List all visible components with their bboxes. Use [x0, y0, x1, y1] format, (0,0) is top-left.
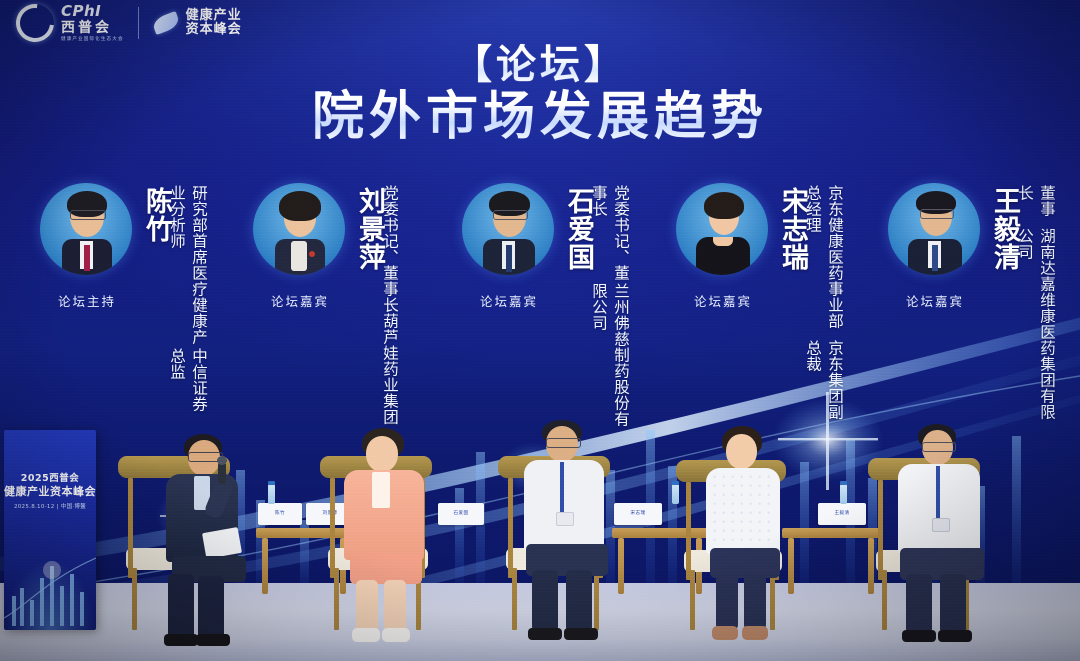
logo-cphi: CPhI 西普会 健康产业国际化生态大会 [16, 4, 124, 43]
logo-cphi-en: CPhI [61, 4, 124, 19]
header-logos: CPhI 西普会 健康产业国际化生态大会 健康产业 资本峰会 [16, 4, 242, 43]
speaker-card-list: 论坛主持 陈竹 研究部首席医疗健康产业分析师 中信证券 总监 论坛嘉宾 刘景萍 [0, 183, 1080, 433]
speaker-role: 论坛嘉宾 [674, 291, 772, 310]
banner-line1: 2025西普会 [4, 470, 96, 484]
panel-discussion-scene: 陈竹 刘景萍 [0, 400, 1080, 661]
speaker-role: 论坛嘉宾 [460, 291, 558, 310]
panelist [146, 434, 266, 644]
avatar [40, 183, 132, 275]
speaker-title-line2: 湖南达嘉维康医药集团有限公司 [1014, 228, 1058, 431]
speaker-card: 论坛嘉宾 宋志瑞 京东健康医药事业部总经理 京东集团副总裁 [676, 183, 874, 433]
water-bottle [840, 484, 847, 504]
nameplate-text: 石爱国 [438, 503, 484, 525]
speaker-title: 党委书记、董事长 兰州佛慈制药股份有限公司 [588, 185, 632, 431]
speaker-title-line2: 葫芦娃药业集团 [379, 313, 401, 425]
panelist [884, 424, 1002, 646]
forum-title-line2: 院外市场发展趋势 [0, 88, 1080, 146]
logo-cphi-subtitle: 健康产业国际化生态大会 [61, 38, 124, 43]
banner-chart-graphic [4, 540, 96, 630]
nameplate-text: 宋志瑞 [614, 503, 662, 525]
conference-stage-screenshot: CPhI 西普会 健康产业国际化生态大会 健康产业 资本峰会 【论坛】 院外市场… [0, 0, 1080, 661]
banner-line3: 2025.8.10-12 | 中国·博鳌 [4, 502, 96, 510]
avatar [253, 183, 345, 275]
speaker-title: 党委书记、董事长 葫芦娃药业集团 [379, 185, 401, 431]
speaker-name: 王毅清 [984, 187, 1018, 271]
ring-logo-icon [8, 0, 61, 50]
nameplate: 陈竹 [258, 503, 302, 525]
banner-line2: 健康产业资本峰会 [4, 483, 96, 499]
speaker-title-line1: 京东健康医药事业部总经理 [802, 185, 846, 340]
nameplate-text: 王毅清 [818, 503, 866, 525]
logo-divider [138, 7, 139, 39]
speaker-name: 陈竹 [136, 187, 170, 243]
speaker-name: 刘景萍 [349, 187, 383, 271]
logo-health-capital-summit: 健康产业 资本峰会 [153, 9, 242, 38]
avatar [676, 183, 768, 275]
rollup-banner: 2025西普会 健康产业资本峰会 2025.8.10-12 | 中国·博鳌 [4, 430, 96, 630]
nameplate: 宋志瑞 [614, 503, 662, 525]
leaf-logo-icon [151, 11, 181, 35]
speaker-name: 石爱国 [558, 187, 592, 271]
speaker-title: 京东健康医药事业部总经理 京东集团副总裁 [802, 185, 846, 431]
speaker-title-line1: 党委书记、董事长 [379, 185, 401, 313]
speaker-title-line1: 研究部首席医疗健康产业分析师 [166, 185, 210, 348]
side-table-leg [788, 538, 794, 594]
speaker-title-line1: 党委书记、董事长 [588, 185, 632, 283]
forum-title: 【论坛】 院外市场发展趋势 [0, 44, 1080, 146]
logo-secondary-line2: 资本峰会 [186, 23, 242, 38]
nameplate: 石爱国 [438, 503, 484, 525]
nameplate: 王毅清 [818, 503, 866, 525]
side-table-leg [618, 538, 624, 594]
speaker-title: 董事长 湖南达嘉维康医药集团有限公司 [1014, 185, 1058, 431]
logo-cphi-cn: 西普会 [61, 21, 124, 35]
speaker-role: 论坛主持 [38, 291, 136, 310]
speaker-title-line2: 兰州佛慈制药股份有限公司 [588, 283, 632, 431]
speaker-role: 论坛嘉宾 [886, 291, 984, 310]
side-table-leg [262, 538, 268, 594]
speaker-card: 论坛嘉宾 刘景萍 党委书记、董事长 葫芦娃药业集团 [253, 183, 448, 433]
speaker-name: 宋志瑞 [772, 187, 806, 271]
avatar [888, 183, 980, 275]
speaker-role: 论坛嘉宾 [251, 291, 349, 310]
nameplate-text: 陈竹 [258, 503, 302, 525]
side-table [782, 528, 880, 538]
speaker-title-line2: 京东集团副总裁 [802, 340, 846, 431]
speaker-card: 论坛嘉宾 石爱国 党委书记、董事长 兰州佛慈制药股份有限公司 [462, 183, 660, 433]
speaker-card: 论坛嘉宾 王毅清 董事长 湖南达嘉维康医药集团有限公司 [888, 183, 1080, 433]
speaker-title-line2: 中信证券 总监 [166, 348, 210, 431]
forum-title-line1: 【论坛】 [0, 44, 1080, 86]
avatar [462, 183, 554, 275]
speaker-title: 研究部首席医疗健康产业分析师 中信证券 总监 [166, 185, 210, 431]
speaker-card: 论坛主持 陈竹 研究部首席医疗健康产业分析师 中信证券 总监 [40, 183, 235, 433]
speaker-title-line1: 董事长 [1014, 185, 1058, 228]
water-bottle [268, 484, 275, 504]
panelist [336, 428, 446, 643]
